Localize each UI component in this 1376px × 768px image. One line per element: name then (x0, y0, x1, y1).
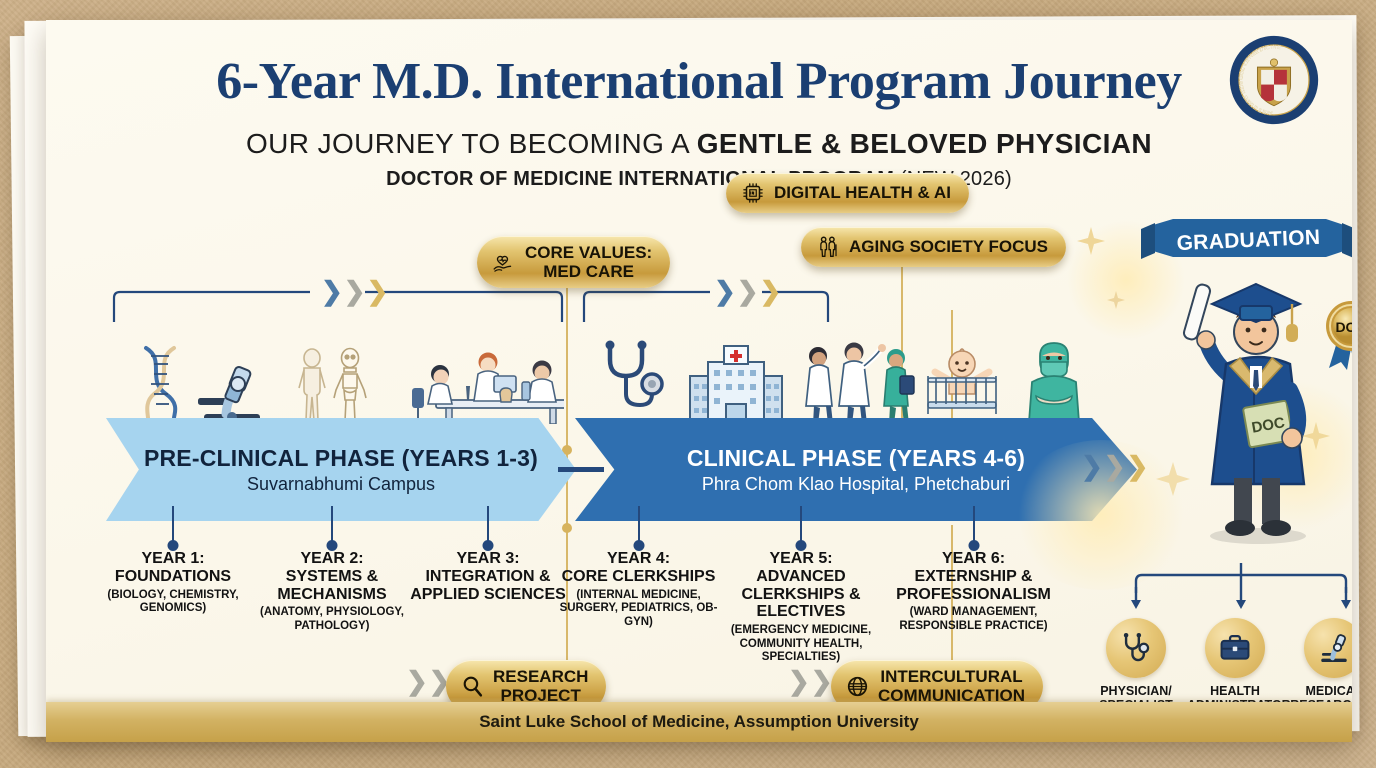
badge-core-values[interactable]: CORE VALUES: MED CARE (477, 236, 670, 288)
pin-dot (483, 540, 494, 551)
year-subjects: (WARD MANAGEMENT, RESPONSIBLE PRACTICE) (881, 606, 1066, 634)
year-subjects: (INTERNAL MEDICINE, SURGERY, PEDIATRICS,… (551, 589, 726, 630)
subtitle: OUR JOURNEY TO BECOMING A GENTLE & BELOV… (46, 128, 1352, 160)
year-subjects: (EMERGENCY MEDICINE, COMMUNITY HEALTH, S… (706, 624, 896, 665)
subtitle-lead: OUR JOURNEY TO BECOMING A (246, 128, 697, 159)
ai-chip-icon (740, 180, 766, 206)
stethoscope-icon (1119, 631, 1153, 665)
pin-dot (968, 540, 979, 551)
elderly-couple-icon (815, 234, 841, 260)
sparkle-icon (1301, 420, 1331, 450)
footer-bar: Saint Luke School of Medicine, Assumptio… (46, 702, 1352, 742)
year-number: YEAR 1: (88, 550, 258, 568)
pin-line (800, 506, 802, 544)
anatomy-figures-icon (299, 349, 366, 422)
phase-name: CLINICAL PHASE (YEARS 4-6) (687, 445, 1025, 472)
infographic-poster: 6-Year M.D. International Program Journe… (46, 20, 1352, 742)
program-line: DOCTOR OF MEDICINE INTERNATIONAL PROGRAM… (46, 168, 1352, 191)
phase-name: PRE-CLINICAL PHASE (YEARS 1-3) (144, 445, 538, 472)
year-subjects: (ANATOMY, PHYSIOLOGY, PATHOLOGY) (242, 606, 422, 634)
clinical-team-icon (806, 343, 914, 425)
year-column-6: YEAR 6: EXTERNSHIP & PROFESSIONALISM (WA… (881, 550, 1066, 634)
phase-location: Suvarnabhumi Campus (247, 474, 435, 495)
pin-line (172, 506, 174, 544)
career-icon-circle (1304, 618, 1352, 678)
year-subjects: (BIOLOGY, CHEMISTRY, GENOMICS) (88, 589, 258, 617)
briefcase-icon (1218, 631, 1252, 665)
connector-dot (562, 523, 572, 533)
svg-text:DOC: DOC (1335, 319, 1352, 335)
career-icon-circle (1106, 618, 1166, 678)
lab-students-icon (412, 353, 564, 425)
year-number: YEAR 2: (242, 550, 422, 568)
footer-text: Saint Luke School of Medicine, Assumptio… (479, 712, 919, 732)
badge-digital-health[interactable]: DIGITAL HEALTH & AI (726, 173, 969, 213)
year-title: EXTERNSHIP & PROFESSIONALISM (881, 568, 1066, 603)
year-column-1: YEAR 1: FOUNDATIONS (BIOLOGY, CHEMISTRY,… (88, 550, 258, 616)
graduate-figure: DOC (1166, 270, 1346, 545)
year-column-4: YEAR 4: CORE CLERKSHIPS (INTERNAL MEDICI… (551, 550, 726, 630)
career-physician-specialist[interactable]: PHYSICIAN/ SPECIALIST (1088, 618, 1184, 713)
pin-line (638, 506, 640, 544)
year-title: FOUNDATIONS (88, 568, 258, 586)
hospital-building-icon (690, 346, 782, 422)
microscope-icon (1317, 631, 1351, 665)
badge-core-values-line1: CORE VALUES: (525, 243, 652, 262)
microscope-icon (198, 366, 260, 422)
sparkle-icon (1076, 225, 1106, 255)
dna-helix-icon (146, 348, 175, 418)
subtitle-emphasis: GENTLE & BELOVED PHYSICIAN (697, 128, 1152, 159)
stethoscope-icon (606, 341, 663, 406)
year-number: YEAR 5: (706, 550, 896, 568)
graduation-ribbon (1141, 217, 1352, 265)
graduation-arrow-chevrons: ❯❯❯ (1081, 453, 1148, 479)
pin-dot (327, 540, 338, 551)
year-title: SYSTEMS & MECHANISMS (242, 568, 422, 603)
pin-line (331, 506, 333, 544)
pin-line (487, 506, 489, 544)
year-column-5: YEAR 5: ADVANCED CLERKSHIPS & ELECTIVES … (706, 550, 896, 665)
year-number: YEAR 4: (551, 550, 726, 568)
bracket-chevrons-right: ❯❯❯ (714, 278, 781, 304)
baby-crib-icon (928, 349, 996, 414)
sparkle-icon (1106, 290, 1126, 310)
surgeon-icon (1029, 343, 1079, 422)
pin-dot (796, 540, 807, 551)
page-title: 6-Year M.D. International Program Journe… (46, 52, 1352, 111)
year-column-2: YEAR 2: SYSTEMS & MECHANISMS (ANATOMY, P… (242, 550, 422, 634)
badge-aging-society-label: AGING SOCIETY FOCUS (849, 237, 1048, 256)
doc-medal-badge: DOC (1321, 298, 1352, 372)
phase-location: Phra Chom Klao Hospital, Phetchaburi (702, 474, 1010, 495)
phase-banner-pre-clinical[interactable]: PRE-CLINICAL PHASE (YEARS 1-3) Suvarnabh… (106, 418, 576, 521)
badge-core-values-line2: MED CARE (543, 262, 634, 281)
globe-icon (845, 674, 870, 699)
year-number: YEAR 6: (881, 550, 1066, 568)
career-health-administrator[interactable]: HEALTH ADMINISTRATOR (1187, 618, 1283, 713)
career-icon-circle (1205, 618, 1265, 678)
badge-digital-health-label: DIGITAL HEALTH & AI (774, 183, 951, 202)
career-medical-researcher[interactable]: MEDICAL RESEARCHER (1286, 618, 1352, 713)
badge-aging-society[interactable]: AGING SOCIETY FOCUS (801, 227, 1066, 267)
year-title: CORE CLERKSHIPS (551, 568, 726, 586)
badge-intercultural-line1: INTERCULTURAL (880, 667, 1022, 686)
phase-banner-clinical[interactable]: CLINICAL PHASE (YEARS 4-6) Phra Chom Kla… (575, 418, 1137, 521)
clinical-illustrations (594, 330, 1094, 424)
pin-dot (633, 540, 644, 551)
badge-research-line1: RESEARCH (493, 667, 588, 686)
pin-line (973, 506, 975, 544)
pin-dot (168, 540, 179, 551)
clinical-bracket (580, 288, 832, 324)
university-seal-icon: ASSUMPTION UNIVERSITY SAINT LUKE SCHOOL … (1228, 34, 1320, 126)
phase-joint-connector (558, 467, 604, 472)
magnifier-icon (460, 674, 485, 699)
career-branch-arrows (1126, 563, 1352, 618)
sparkle-icon (1154, 460, 1192, 498)
bracket-chevrons-left: ❯❯❯ (321, 278, 388, 304)
pre-clinical-illustrations (134, 338, 564, 424)
year-title: ADVANCED CLERKSHIPS & ELECTIVES (706, 568, 896, 621)
heart-in-hand-icon (491, 249, 517, 275)
